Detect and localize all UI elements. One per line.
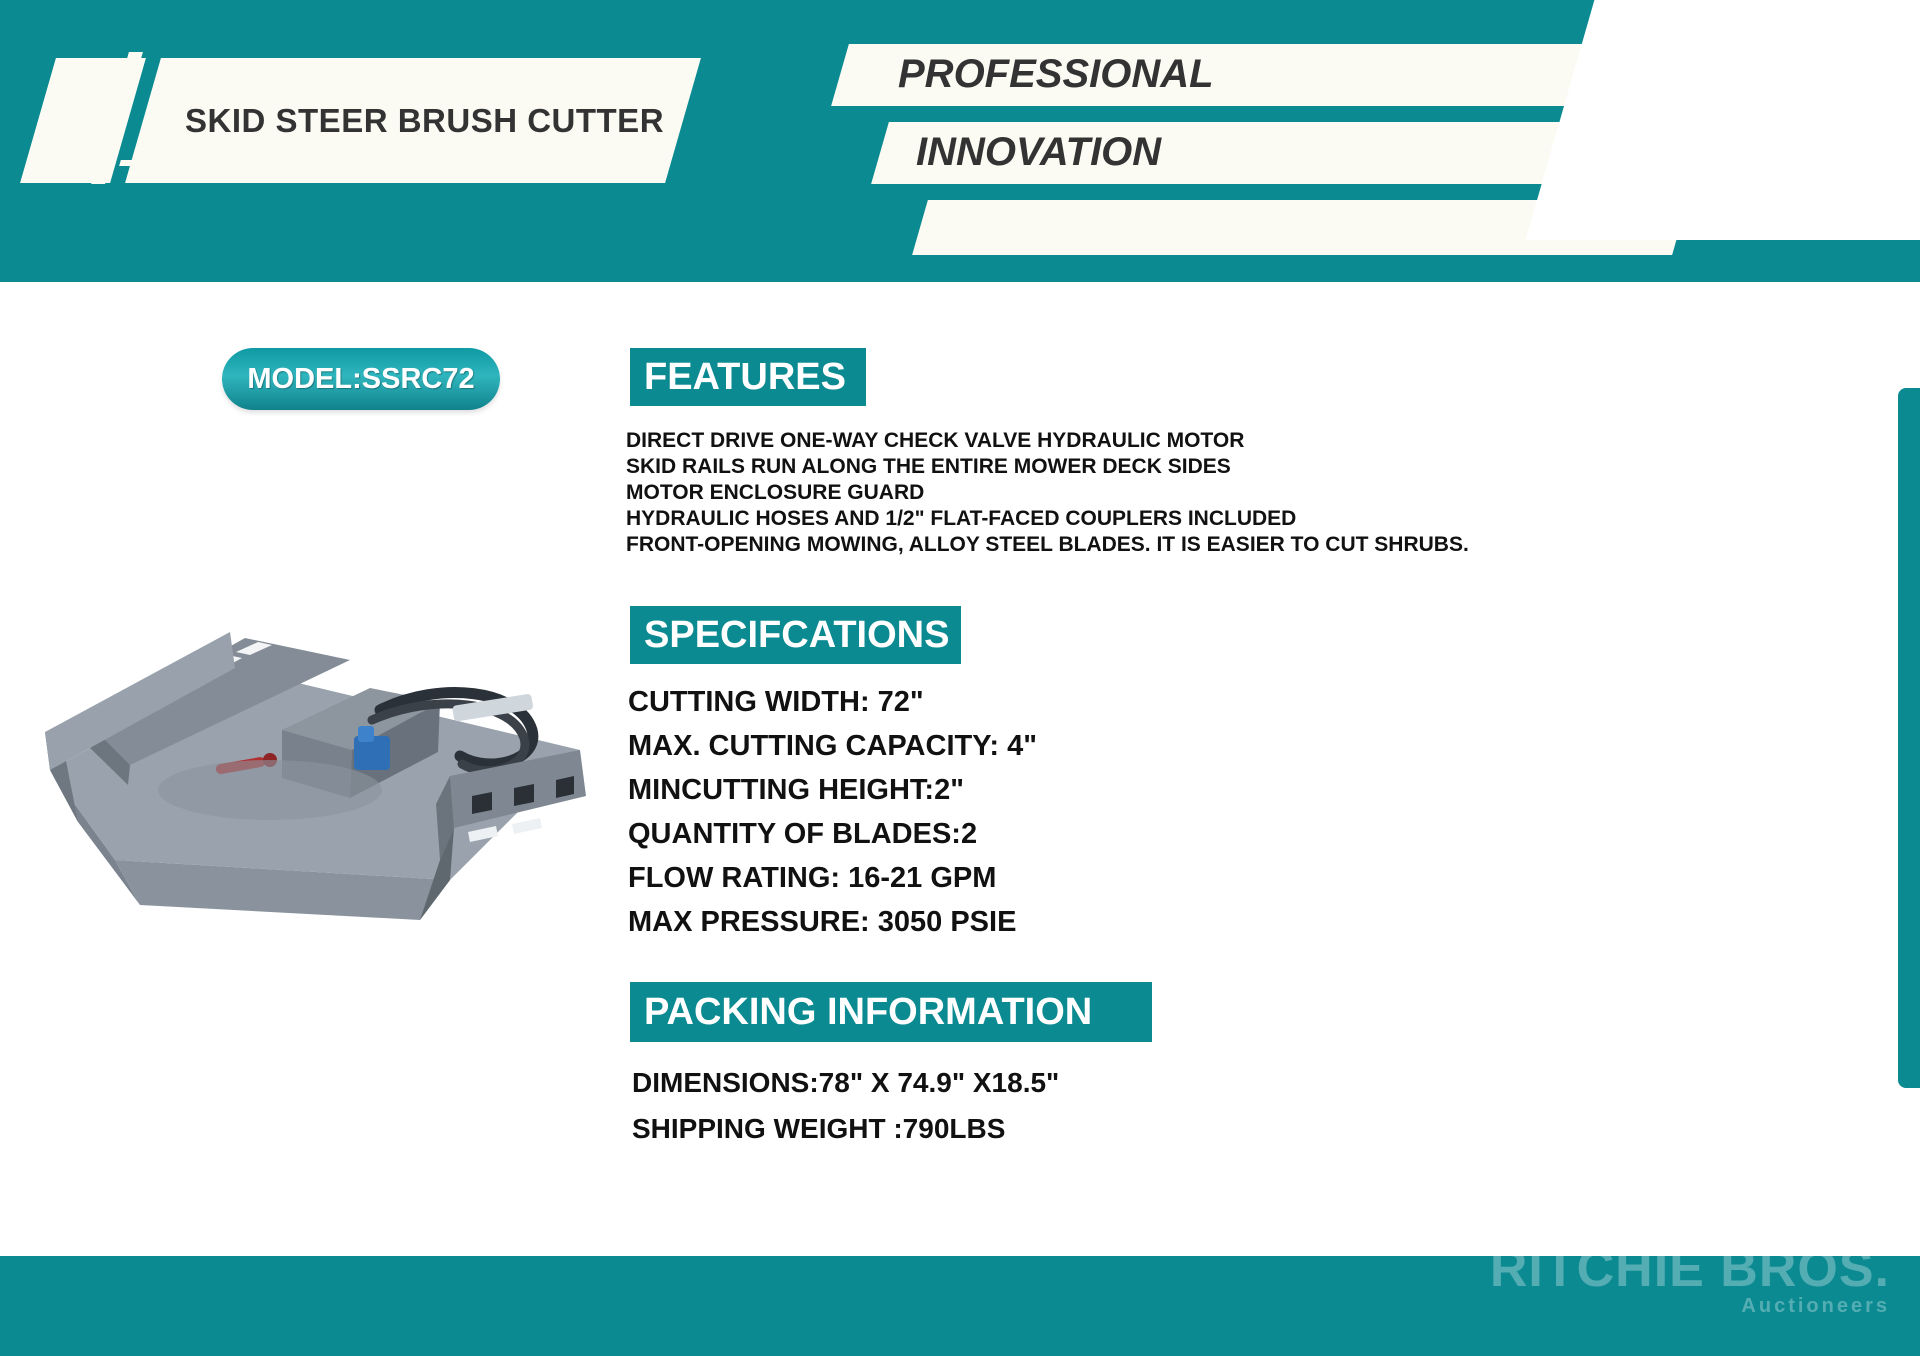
packing-heading: PACKING INFORMATION — [630, 982, 1152, 1042]
spec-item: FLOW RATING: 16-21 GPM — [628, 856, 1328, 900]
tagline-innovation: INNOVATION — [916, 130, 1161, 175]
spec-item: MINCUTTING HEIGHT:2" — [628, 768, 1328, 812]
model-badge: MODEL:SSRC72 — [222, 348, 500, 410]
spec-item: MAX PRESSURE: 3050 PSIE — [628, 900, 1328, 944]
packing-list: DIMENSIONS:78" X 74.9" X18.5" SHIPPING W… — [632, 1060, 1332, 1152]
specifications-list: CUTTING WIDTH: 72" MAX. CUTTING CAPACITY… — [628, 680, 1328, 944]
specifications-heading: SPECIFCATIONS — [630, 606, 961, 664]
spec-item: CUTTING WIDTH: 72" — [628, 680, 1328, 724]
watermark-main-text: RITCHIE BROS. — [1490, 1239, 1890, 1299]
page-title: SKID STEER BRUSH CUTTER — [185, 78, 705, 164]
feature-item: MOTOR ENCLOSURE GUARD — [626, 480, 1406, 506]
packing-item: SHIPPING WEIGHT :790LBS — [632, 1106, 1332, 1152]
right-edge-accent-tab — [1898, 388, 1920, 1088]
model-badge-label: MODEL:SSRC72 — [222, 348, 500, 410]
packing-item: DIMENSIONS:78" X 74.9" X18.5" — [632, 1060, 1332, 1106]
footer-watermark: RITCHIE BROS. Auctioneers — [1490, 1239, 1890, 1318]
tagline-professional: PROFESSIONAL — [898, 52, 1214, 97]
product-image-brush-cutter — [20, 560, 620, 980]
page-footer: RITCHIE BROS. Auctioneers — [0, 1256, 1920, 1356]
page-header: SKID STEER BRUSH CUTTER PROFESSIONAL INN… — [0, 0, 1920, 282]
feature-item: FRONT-OPENING MOWING, ALLOY STEEL BLADES… — [626, 532, 1406, 558]
feature-item: SKID RAILS RUN ALONG THE ENTIRE MOWER DE… — [626, 454, 1406, 480]
spec-item: QUANTITY OF BLADES:2 — [628, 812, 1328, 856]
features-heading: FEATURES — [630, 348, 866, 406]
feature-item: DIRECT DRIVE ONE-WAY CHECK VALVE HYDRAUL… — [626, 428, 1406, 454]
spec-item: MAX. CUTTING CAPACITY: 4" — [628, 724, 1328, 768]
features-list: DIRECT DRIVE ONE-WAY CHECK VALVE HYDRAUL… — [626, 428, 1406, 558]
brand-logo: AGROTK — [1600, 0, 1920, 240]
feature-item: HYDRAULIC HOSES AND 1/2" FLAT-FACED COUP… — [626, 506, 1406, 532]
